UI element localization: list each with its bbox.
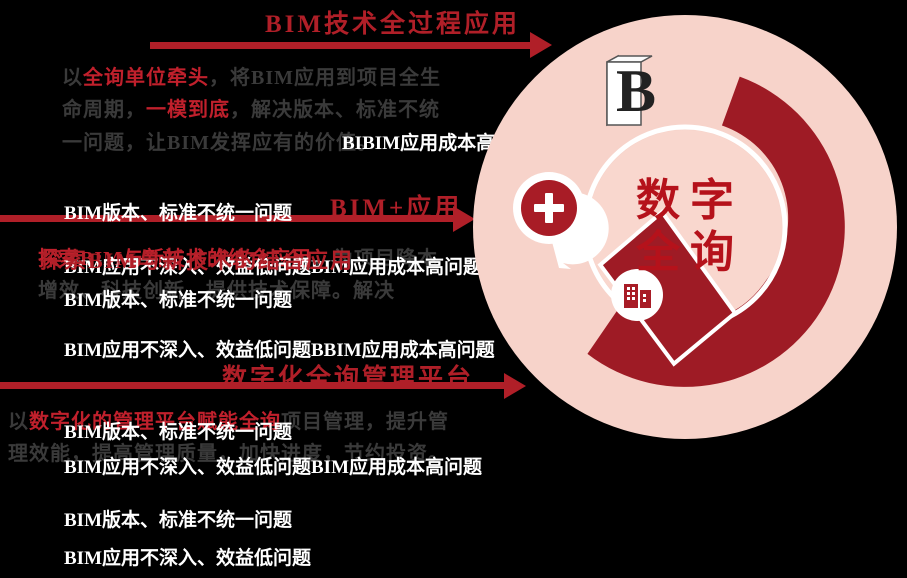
circular-diagram: B 数字 全询 [470, 12, 900, 442]
problem-tag-6: BIM应用不深入、效益低问题BIM应用成本高问题 [64, 452, 482, 479]
section-3-arrow-line [0, 382, 508, 389]
para1-part-3: 一模到底 [146, 99, 230, 121]
para3-part-0: 以 [8, 411, 29, 433]
red-overlay-headline: 探索BIM与新技术的结合应用 [40, 243, 354, 275]
building-badge [611, 269, 663, 321]
problem-tag-4: BIM应用不深入、效益低问题BBIM应用成本高问题 [64, 335, 495, 362]
problem-tag-1: BIM版本、标准不统一问题 [64, 198, 292, 225]
para1-part-0: 以 [62, 67, 83, 89]
svg-text:B: B [616, 58, 656, 124]
para1-part-1: 全询单位牵头 [83, 67, 209, 89]
infographic-canvas: BIM技术全过程应用 以全询单位牵头，将BIM应用到项目全生命周期，一模到底，解… [0, 0, 907, 578]
problem-tag-3: BIM版本、标准不统一问题 [64, 285, 292, 312]
problem-tag-7: BIM版本、标准不统一问题 [64, 505, 292, 532]
problem-tag-8: BIM应用不深入、效益低问题 [64, 543, 311, 570]
bim-letter-badge: B [607, 56, 656, 125]
problem-tag-5: BIM版本、标准不统一问题 [64, 417, 292, 444]
